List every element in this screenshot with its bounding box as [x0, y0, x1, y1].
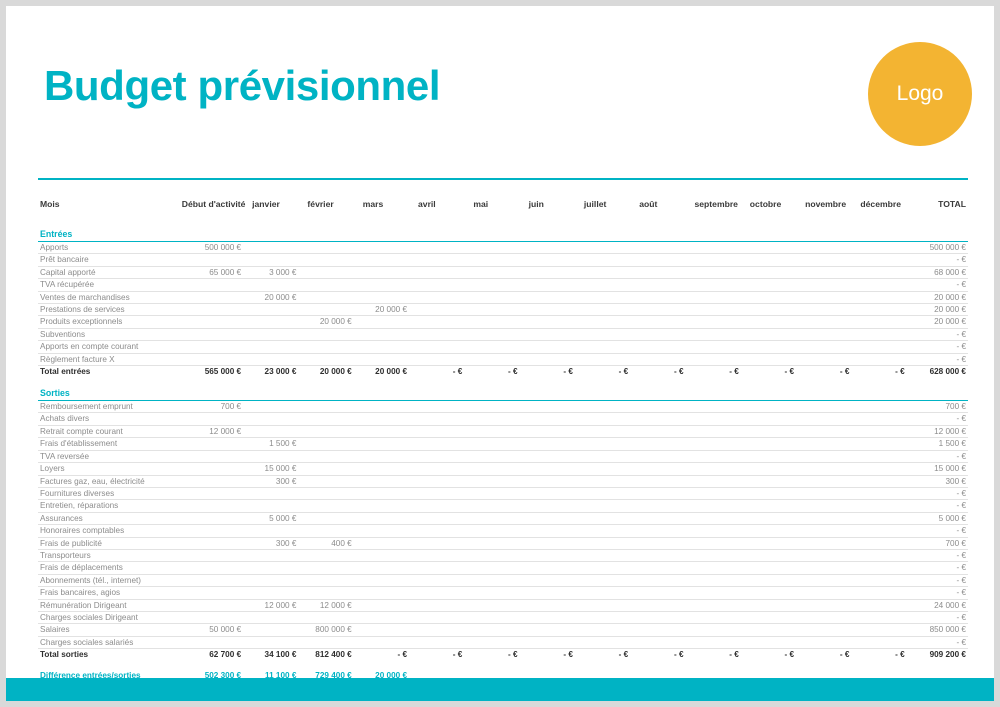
row-cell	[249, 242, 304, 254]
document-page: Budget prévisionnel Logo MoisDébut d'act…	[6, 6, 994, 701]
row-cell	[857, 438, 912, 450]
row-cell	[747, 525, 802, 537]
row-cell	[360, 624, 415, 636]
row-cell	[802, 413, 857, 425]
row-cell	[360, 512, 415, 524]
row-cell	[802, 316, 857, 328]
row-cell: - €	[692, 366, 747, 379]
row-cell	[249, 611, 304, 623]
table-row: Règlement facture X- €	[38, 353, 968, 365]
row-cell	[304, 401, 359, 413]
row-cell	[636, 316, 691, 328]
row-cell	[179, 599, 249, 611]
row-cell	[581, 475, 636, 487]
row-cell	[415, 328, 470, 340]
table-row: Rémunération Dirigeant12 000 €12 000 €24…	[38, 599, 968, 611]
row-cell	[636, 537, 691, 549]
row-cell	[581, 574, 636, 586]
row-cell	[360, 401, 415, 413]
row-cell	[581, 279, 636, 291]
row-cell	[747, 537, 802, 549]
row-cell	[692, 304, 747, 316]
row-cell	[415, 624, 470, 636]
row-cell	[857, 304, 912, 316]
row-cell	[581, 587, 636, 599]
table-row: Capital apporté65 000 €3 000 €68 000 €	[38, 266, 968, 278]
row-cell	[636, 438, 691, 450]
row-total-cell: - €	[913, 341, 968, 353]
row-cell	[857, 450, 912, 462]
row-cell	[636, 599, 691, 611]
row-cell	[360, 425, 415, 437]
column-header-ao-t: août	[636, 192, 691, 216]
row-cell	[526, 279, 581, 291]
row-cell	[802, 266, 857, 278]
row-cell	[747, 587, 802, 599]
row-cell	[470, 611, 525, 623]
row-cell	[304, 438, 359, 450]
row-cell: - €	[857, 366, 912, 379]
row-cell	[360, 500, 415, 512]
row-cell	[526, 487, 581, 499]
row-cell	[636, 291, 691, 303]
row-cell	[470, 512, 525, 524]
row-cell	[360, 450, 415, 462]
row-cell	[857, 562, 912, 574]
row-cell	[857, 413, 912, 425]
row-cell	[470, 401, 525, 413]
row-cell	[179, 487, 249, 499]
row-cell	[692, 341, 747, 353]
budget-table: MoisDébut d'activitéjanvierfévriermarsav…	[38, 192, 968, 695]
row-cell	[415, 562, 470, 574]
row-cell	[470, 341, 525, 353]
row-cell	[249, 341, 304, 353]
row-label: Prêt bancaire	[38, 254, 179, 266]
row-total-cell: 700 €	[913, 401, 968, 413]
row-cell	[470, 425, 525, 437]
row-cell	[415, 599, 470, 611]
row-cell	[360, 463, 415, 475]
row-cell	[802, 611, 857, 623]
row-cell	[636, 624, 691, 636]
row-cell	[249, 279, 304, 291]
row-label: Achats divers	[38, 413, 179, 425]
row-cell	[857, 587, 912, 599]
row-cell	[249, 353, 304, 365]
row-cell	[526, 291, 581, 303]
row-cell	[304, 475, 359, 487]
row-cell	[526, 450, 581, 462]
row-cell	[857, 401, 912, 413]
row-cell	[857, 487, 912, 499]
row-cell: 300 €	[249, 537, 304, 549]
row-total-cell: 15 000 €	[913, 463, 968, 475]
row-cell	[526, 304, 581, 316]
row-cell: 12 000 €	[249, 599, 304, 611]
row-cell	[636, 500, 691, 512]
row-total-cell: 628 000 €	[913, 366, 968, 379]
row-cell: - €	[692, 649, 747, 662]
row-cell	[692, 413, 747, 425]
row-cell	[636, 279, 691, 291]
row-cell	[747, 463, 802, 475]
row-cell	[581, 562, 636, 574]
row-cell	[857, 341, 912, 353]
row-label: Frais bancaires, agios	[38, 587, 179, 599]
row-cell	[415, 413, 470, 425]
row-cell	[249, 636, 304, 648]
row-cell	[470, 500, 525, 512]
row-cell	[249, 304, 304, 316]
row-cell: 65 000 €	[179, 266, 249, 278]
row-cell	[636, 413, 691, 425]
row-cell	[747, 304, 802, 316]
row-cell: - €	[526, 649, 581, 662]
row-label: Assurances	[38, 512, 179, 524]
row-cell	[179, 328, 249, 340]
row-label: Capital apporté	[38, 266, 179, 278]
row-cell	[415, 549, 470, 561]
footer-bar	[6, 678, 994, 701]
row-cell	[179, 254, 249, 266]
row-cell: - €	[526, 366, 581, 379]
row-cell	[470, 304, 525, 316]
row-total-cell: 500 000 €	[913, 242, 968, 254]
row-cell	[470, 475, 525, 487]
row-cell	[304, 587, 359, 599]
row-cell	[581, 537, 636, 549]
row-cell	[692, 401, 747, 413]
row-cell	[179, 413, 249, 425]
row-total-cell: - €	[913, 279, 968, 291]
row-cell	[857, 291, 912, 303]
row-cell	[304, 425, 359, 437]
row-cell	[802, 254, 857, 266]
row-cell	[692, 587, 747, 599]
table-row: Prestations de services20 000 €20 000 €	[38, 304, 968, 316]
row-cell	[802, 242, 857, 254]
row-cell	[692, 475, 747, 487]
table-row: Abonnements (tél., internet)- €	[38, 574, 968, 586]
summary-gap	[38, 661, 968, 670]
table-head: MoisDébut d'activitéjanvierfévriermarsav…	[38, 192, 968, 216]
row-cell	[415, 242, 470, 254]
row-cell: - €	[581, 649, 636, 662]
table-row: Charges sociales salariés- €	[38, 636, 968, 648]
spacer-cell	[38, 378, 968, 387]
row-cell	[526, 549, 581, 561]
row-cell	[249, 587, 304, 599]
row-cell	[179, 316, 249, 328]
row-cell: - €	[415, 649, 470, 662]
row-cell	[747, 450, 802, 462]
row-label: Prestations de services	[38, 304, 179, 316]
row-total-cell: - €	[913, 525, 968, 537]
row-cell: 20 000 €	[304, 316, 359, 328]
row-total-cell: - €	[913, 500, 968, 512]
row-cell	[802, 279, 857, 291]
document-header: Budget prévisionnel Logo	[6, 6, 994, 166]
row-cell	[470, 291, 525, 303]
row-cell	[415, 500, 470, 512]
row-cell	[360, 266, 415, 278]
row-cell	[415, 401, 470, 413]
row-cell	[360, 413, 415, 425]
row-cell	[802, 537, 857, 549]
row-label: Produits exceptionnels	[38, 316, 179, 328]
row-cell	[360, 549, 415, 561]
row-cell	[415, 438, 470, 450]
row-cell	[747, 353, 802, 365]
row-cell	[802, 463, 857, 475]
column-header-juillet: juillet	[581, 192, 636, 216]
row-cell	[526, 525, 581, 537]
row-cell	[360, 599, 415, 611]
row-cell	[747, 611, 802, 623]
row-cell	[179, 587, 249, 599]
row-cell	[249, 401, 304, 413]
row-cell: 15 000 €	[249, 463, 304, 475]
row-cell	[747, 512, 802, 524]
row-cell	[581, 438, 636, 450]
table-row: Apports en compte courant- €	[38, 341, 968, 353]
row-cell	[581, 266, 636, 278]
row-label: TVA récupérée	[38, 279, 179, 291]
row-cell	[179, 562, 249, 574]
table-row: Frais bancaires, agios- €	[38, 587, 968, 599]
row-cell	[692, 242, 747, 254]
row-cell	[747, 254, 802, 266]
column-header-janvier: janvier	[249, 192, 304, 216]
row-cell	[581, 425, 636, 437]
row-cell	[747, 562, 802, 574]
row-cell	[360, 611, 415, 623]
row-cell	[179, 463, 249, 475]
row-cell	[636, 487, 691, 499]
table-body: EntréesApports500 000 €500 000 €Prêt ban…	[38, 216, 968, 695]
row-label: TVA reversée	[38, 450, 179, 462]
row-label: Rémunération Dirigeant	[38, 599, 179, 611]
row-cell	[857, 266, 912, 278]
row-cell	[581, 463, 636, 475]
row-cell	[304, 500, 359, 512]
row-cell: 12 000 €	[179, 425, 249, 437]
row-cell	[360, 341, 415, 353]
row-cell	[526, 438, 581, 450]
row-cell: 34 100 €	[249, 649, 304, 662]
row-label: Subventions	[38, 328, 179, 340]
column-header-d-cembre: décembre	[857, 192, 912, 216]
row-cell	[581, 316, 636, 328]
row-cell: 12 000 €	[304, 599, 359, 611]
row-cell	[526, 636, 581, 648]
row-cell	[249, 316, 304, 328]
row-total-cell: - €	[913, 254, 968, 266]
row-label: Apports	[38, 242, 179, 254]
row-cell	[857, 549, 912, 561]
table-row: Factures gaz, eau, électricité300 €300 €	[38, 475, 968, 487]
row-cell	[747, 425, 802, 437]
row-cell: - €	[802, 649, 857, 662]
row-cell	[415, 450, 470, 462]
row-cell	[747, 279, 802, 291]
row-cell	[581, 291, 636, 303]
row-cell	[179, 475, 249, 487]
row-cell	[581, 500, 636, 512]
row-cell	[526, 266, 581, 278]
row-label: Frais de publicité	[38, 537, 179, 549]
spacer-cell	[38, 216, 968, 228]
row-cell	[249, 562, 304, 574]
row-cell	[415, 487, 470, 499]
row-cell	[179, 512, 249, 524]
row-cell	[636, 463, 691, 475]
row-cell	[636, 425, 691, 437]
row-cell: - €	[747, 649, 802, 662]
row-cell	[581, 611, 636, 623]
row-cell	[692, 450, 747, 462]
row-cell	[857, 463, 912, 475]
row-cell	[857, 574, 912, 586]
table-row: Apports500 000 €500 000 €	[38, 242, 968, 254]
row-cell	[304, 353, 359, 365]
row-cell	[470, 353, 525, 365]
row-cell	[692, 279, 747, 291]
row-label: Abonnements (tél., internet)	[38, 574, 179, 586]
table-row: Subventions- €	[38, 328, 968, 340]
row-cell	[581, 413, 636, 425]
row-cell	[802, 500, 857, 512]
row-cell	[304, 279, 359, 291]
spacer-cell	[38, 661, 968, 670]
row-total-cell: - €	[913, 413, 968, 425]
row-cell	[179, 636, 249, 648]
logo-label: Logo	[897, 82, 944, 106]
table-row: Produits exceptionnels20 000 €20 000 €	[38, 316, 968, 328]
row-cell	[470, 624, 525, 636]
row-cell	[857, 512, 912, 524]
row-cell	[249, 254, 304, 266]
table-row: Fournitures diverses- €	[38, 487, 968, 499]
row-label: Charges sociales Dirigeant	[38, 611, 179, 623]
table-row: Transporteurs- €	[38, 549, 968, 561]
row-cell	[857, 475, 912, 487]
row-cell: 20 000 €	[360, 366, 415, 379]
row-total-cell: 20 000 €	[913, 316, 968, 328]
row-label: Total sorties	[38, 649, 179, 662]
row-cell	[304, 611, 359, 623]
row-cell	[747, 487, 802, 499]
row-total-cell: 20 000 €	[913, 291, 968, 303]
row-cell	[526, 587, 581, 599]
row-cell	[581, 549, 636, 561]
row-cell	[415, 353, 470, 365]
row-cell	[692, 537, 747, 549]
row-cell	[360, 475, 415, 487]
row-cell	[470, 413, 525, 425]
row-cell	[526, 463, 581, 475]
row-cell	[415, 425, 470, 437]
table-row: TVA reversée- €	[38, 450, 968, 462]
row-cell	[692, 599, 747, 611]
row-cell	[179, 525, 249, 537]
row-cell	[415, 463, 470, 475]
table-row: Frais de publicité300 €400 €700 €	[38, 537, 968, 549]
table-row: Achats divers- €	[38, 413, 968, 425]
row-cell	[526, 562, 581, 574]
row-cell: - €	[747, 366, 802, 379]
row-cell	[802, 425, 857, 437]
row-cell	[692, 562, 747, 574]
row-cell	[179, 291, 249, 303]
row-cell	[304, 636, 359, 648]
row-cell	[415, 525, 470, 537]
row-cell: 50 000 €	[179, 624, 249, 636]
row-cell	[692, 611, 747, 623]
row-cell	[304, 549, 359, 561]
row-cell	[747, 636, 802, 648]
row-cell	[249, 450, 304, 462]
row-cell	[802, 438, 857, 450]
row-cell	[636, 450, 691, 462]
row-cell: - €	[802, 366, 857, 379]
row-cell	[360, 242, 415, 254]
row-cell	[692, 266, 747, 278]
table-row: Frais d'établissement1 500 €1 500 €	[38, 438, 968, 450]
row-cell	[526, 500, 581, 512]
row-total-cell: - €	[913, 328, 968, 340]
row-cell: 400 €	[304, 537, 359, 549]
row-cell	[692, 500, 747, 512]
row-cell	[304, 304, 359, 316]
row-cell	[470, 316, 525, 328]
row-cell	[526, 353, 581, 365]
row-cell	[747, 291, 802, 303]
column-header-f-vrier: février	[304, 192, 359, 216]
row-cell: 23 000 €	[249, 366, 304, 379]
row-cell	[179, 537, 249, 549]
row-cell	[360, 487, 415, 499]
row-label: Transporteurs	[38, 549, 179, 561]
row-cell	[360, 587, 415, 599]
row-total-cell: 850 000 €	[913, 624, 968, 636]
row-cell	[802, 450, 857, 462]
row-cell	[802, 562, 857, 574]
row-cell: 800 000 €	[304, 624, 359, 636]
row-cell	[304, 525, 359, 537]
row-cell	[249, 328, 304, 340]
row-cell: - €	[636, 366, 691, 379]
section-header-sorties: Sorties	[38, 387, 968, 401]
column-header-octobre: octobre	[747, 192, 802, 216]
row-cell: 1 500 €	[249, 438, 304, 450]
row-cell	[636, 512, 691, 524]
logo: Logo	[868, 42, 972, 146]
row-cell	[747, 316, 802, 328]
row-cell	[802, 512, 857, 524]
row-cell	[747, 574, 802, 586]
row-cell	[636, 574, 691, 586]
row-label: Honoraires comptables	[38, 525, 179, 537]
table-row: Entretien, réparations- €	[38, 500, 968, 512]
row-cell	[470, 525, 525, 537]
row-cell	[360, 438, 415, 450]
row-cell	[470, 574, 525, 586]
header-divider	[38, 178, 968, 180]
row-cell	[360, 636, 415, 648]
table-row: Salaires50 000 €800 000 €850 000 €	[38, 624, 968, 636]
